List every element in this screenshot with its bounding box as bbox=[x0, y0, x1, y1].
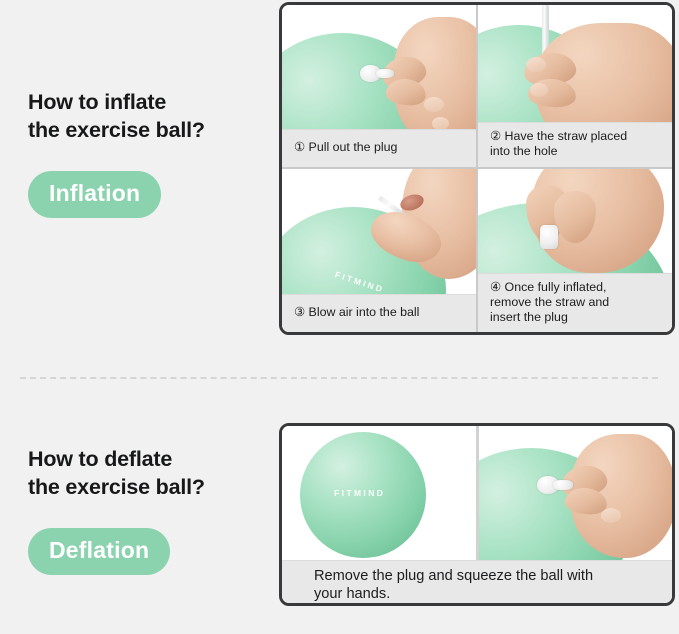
deflation-right-photo bbox=[479, 426, 673, 560]
inflation-step-2: ② Have the straw placed into the hole bbox=[478, 5, 672, 167]
deflation-heading: How to deflate the exercise ball? bbox=[28, 445, 268, 502]
inflation-row-top: ① Pull out the plug ② Have the straw pla… bbox=[282, 5, 672, 169]
step-3-caption: ③ Blow air into the ball bbox=[282, 294, 476, 332]
deflation-image-row: FITMIND bbox=[282, 426, 672, 560]
inflation-heading: How to inflate the exercise ball? bbox=[28, 88, 268, 145]
inflation-steps-grid: ① Pull out the plug ② Have the straw pla… bbox=[279, 2, 675, 335]
plug-strap bbox=[376, 69, 394, 78]
step-3-photo: FITMIND bbox=[282, 169, 476, 295]
step-4-photo bbox=[478, 169, 672, 273]
step-4-caption: ④ Once fully inflated, remove the straw … bbox=[478, 273, 672, 332]
deflation-photo-left: FITMIND bbox=[282, 426, 479, 560]
inflation-step-4: ④ Once fully inflated, remove the straw … bbox=[478, 169, 672, 333]
fingernail bbox=[601, 508, 621, 523]
fingernail bbox=[432, 117, 449, 129]
inflation-section: How to inflate the exercise ball? Inflat… bbox=[0, 0, 679, 368]
step-1-photo bbox=[282, 5, 476, 129]
fingernail bbox=[526, 57, 546, 72]
deflation-caption: Remove the plug and squeeze the ball wit… bbox=[282, 560, 672, 606]
deflation-steps-grid: FITMIND Remove the plug and squeeze the … bbox=[279, 423, 675, 606]
step-2-caption: ② Have the straw placed into the hole bbox=[478, 122, 672, 166]
inflation-row-bottom: FITMIND ③ Blow air into the ball bbox=[282, 169, 672, 333]
section-divider bbox=[20, 377, 658, 379]
deflation-left-photo: FITMIND bbox=[282, 426, 476, 560]
plug-strap bbox=[553, 480, 573, 490]
ball-plug bbox=[540, 225, 558, 249]
deflation-photo-right bbox=[479, 426, 673, 560]
fingernail bbox=[530, 83, 548, 97]
inflation-step-3: FITMIND ③ Blow air into the ball bbox=[282, 169, 478, 333]
exercise-ball bbox=[300, 432, 426, 558]
deflation-badge: Deflation bbox=[28, 528, 170, 575]
step-2-photo bbox=[478, 5, 672, 122]
inflation-step-1: ① Pull out the plug bbox=[282, 5, 478, 167]
inflation-text-column: How to inflate the exercise ball? Inflat… bbox=[28, 88, 268, 218]
inflation-badge: Inflation bbox=[28, 171, 161, 218]
deflation-text-column: How to deflate the exercise ball? Deflat… bbox=[28, 445, 268, 575]
fingernail bbox=[424, 97, 444, 112]
step-1-caption: ① Pull out the plug bbox=[282, 129, 476, 167]
